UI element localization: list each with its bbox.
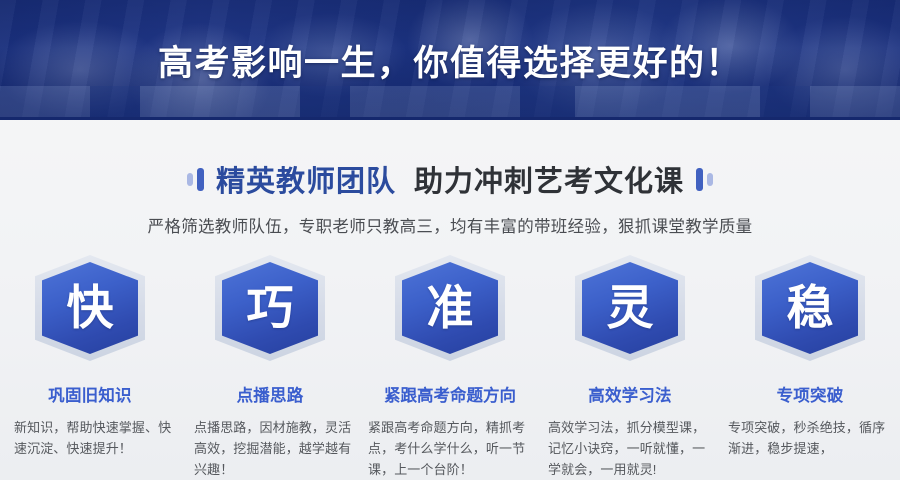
feature-card-title: 专项突破	[728, 382, 892, 406]
feature-card-title: 巩固旧知识	[8, 382, 172, 406]
feature-card-body: 紧跟高考命题方向，精抓考点，考什么学什么，听一节课，上一个台阶！	[368, 417, 532, 480]
hexagon-glyph: 巧	[247, 284, 294, 331]
hexagon-badge-inner: 准	[402, 262, 498, 354]
feature-card[interactable]: 稳 专项突破 专项突破，秒杀绝技，循序渐进，稳步提速，	[720, 255, 900, 480]
hexagon-badge-inner: 稳	[762, 262, 858, 354]
heading-decoration-right-icon	[696, 168, 713, 191]
feature-card-body: 点播思路，因材施教，灵活高效，挖掘潜能，越学越有兴趣！	[188, 417, 352, 480]
hexagon-badge-inner: 巧	[222, 262, 318, 354]
feature-card-body: 高效学习法，抓分模型课，记忆小诀窍，一听就懂，一学就会，一用就灵!	[548, 417, 712, 480]
hexagon-badge-inner: 灵	[582, 262, 678, 354]
promo-page: 高考影响一生，你值得选择更好的！ 精英教师团队 助力冲刺艺考文化课 严格筛选教师…	[0, 0, 900, 480]
hexagon-glyph: 稳	[787, 284, 834, 331]
feature-card-title: 紧跟高考命题方向	[368, 382, 532, 406]
feature-card-list: 快 巩固旧知识 新知识，帮助快速掌握、快速沉淀、快速提升！ 巧 点播思路 点播思…	[0, 255, 900, 480]
hexagon-badge: 快	[35, 255, 145, 361]
hexagon-glyph: 灵	[607, 284, 654, 331]
feature-card-title: 点播思路	[188, 382, 352, 406]
section-heading-highlight: 精英教师团队	[216, 158, 396, 200]
banner-headline: 高考影响一生，你值得选择更好的！	[0, 0, 900, 120]
hexagon-badge: 准	[395, 255, 505, 361]
section-heading-row: 精英教师团队 助力冲刺艺考文化课	[0, 158, 900, 200]
heading-decoration-left-icon	[187, 168, 204, 191]
hexagon-badge: 巧	[215, 255, 325, 361]
hexagon-badge: 稳	[755, 255, 865, 361]
hero-banner: 高考影响一生，你值得选择更好的！	[0, 0, 900, 120]
hexagon-badge: 灵	[575, 255, 685, 361]
feature-card-body: 新知识，帮助快速掌握、快速沉淀、快速提升！	[8, 417, 172, 459]
section-heading-rest: 助力冲刺艺考文化课	[414, 158, 684, 200]
hexagon-glyph: 准	[427, 284, 474, 331]
section-heading-block: 精英教师团队 助力冲刺艺考文化课 严格筛选教师队伍，专职老师只教高三，均有丰富的…	[0, 120, 900, 237]
feature-card[interactable]: 快 巩固旧知识 新知识，帮助快速掌握、快速沉淀、快速提升！	[0, 255, 180, 480]
feature-card[interactable]: 准 紧跟高考命题方向 紧跟高考命题方向，精抓考点，考什么学什么，听一节课，上一个…	[360, 255, 540, 480]
section-subheading: 严格筛选教师队伍，专职老师只教高三，均有丰富的带班经验，狠抓课堂教学质量	[0, 213, 900, 237]
feature-card[interactable]: 巧 点播思路 点播思路，因材施教，灵活高效，挖掘潜能，越学越有兴趣！	[180, 255, 360, 480]
feature-card-body: 专项突破，秒杀绝技，循序渐进，稳步提速，	[728, 417, 892, 459]
feature-card-title: 高效学习法	[548, 382, 712, 406]
feature-card[interactable]: 灵 高效学习法 高效学习法，抓分模型课，记忆小诀窍，一听就懂，一学就会，一用就灵…	[540, 255, 720, 480]
hexagon-glyph: 快	[67, 284, 114, 331]
hexagon-badge-inner: 快	[42, 262, 138, 354]
